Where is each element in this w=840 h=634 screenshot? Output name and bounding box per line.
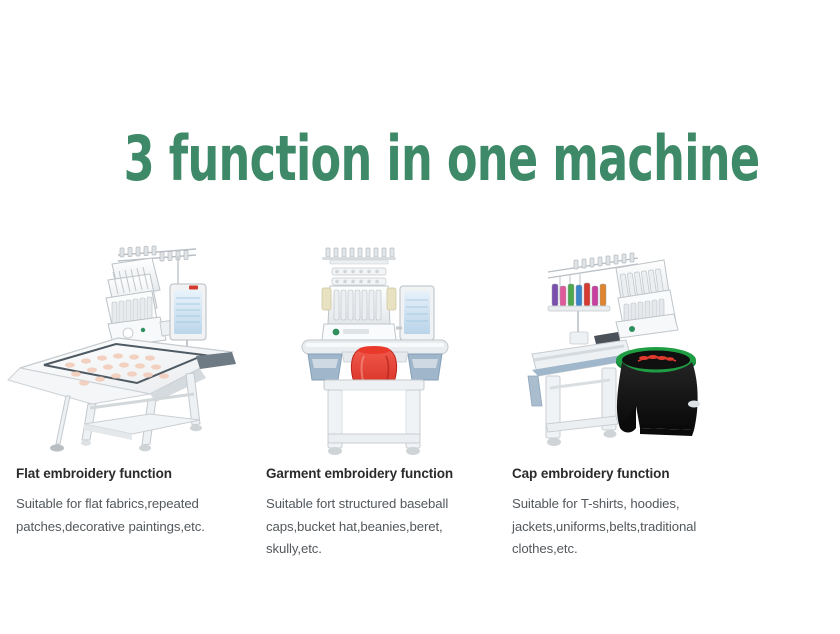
feature-title-cap: Cap embroidery function: [512, 466, 748, 482]
feature-image-garment: [250, 228, 498, 468]
feature-description-garment: Suitable fort structured baseball caps,b…: [266, 493, 498, 561]
page-title: 3 function in one machine: [0, 128, 840, 190]
feature-image-flat: [0, 228, 250, 468]
feature-description-flat: Suitable for flat fabrics,repeated patch…: [16, 493, 250, 538]
feature-title-flat: Flat embroidery function: [16, 466, 250, 482]
feature-caption-row: Flat embroidery function Suitable for fl…: [0, 466, 840, 561]
garment-embroidery-machine-photo: [250, 228, 498, 468]
feature-title-garment: Garment embroidery function: [266, 466, 498, 482]
feature-image-row: [0, 228, 840, 468]
feature-description-cap: Suitable for T-shirts, hoodies, jackets,…: [512, 493, 748, 561]
page-title-text: 3 function in one machine: [124, 128, 760, 190]
feature-caption-cap: Cap embroidery function Suitable for T-s…: [498, 466, 748, 561]
promo-page: 3 function in one machine: [0, 0, 840, 634]
feature-caption-flat: Flat embroidery function Suitable for fl…: [0, 466, 250, 561]
flat-embroidery-machine-photo: [0, 228, 250, 468]
feature-caption-garment: Garment embroidery function Suitable for…: [250, 466, 498, 561]
feature-image-cap: [498, 228, 748, 468]
cap-embroidery-machine-photo: [498, 228, 748, 468]
